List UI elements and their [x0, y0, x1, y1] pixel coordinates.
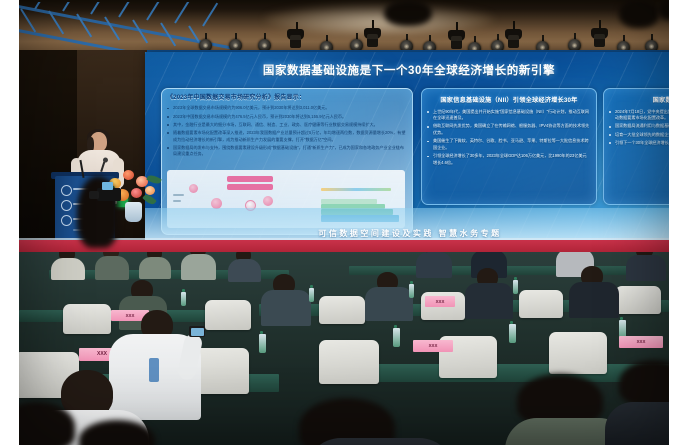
card-bullet: 国家数据局流通利用与数据基础设施建设协同布局逐步推进。	[609, 123, 669, 130]
audience-chair	[319, 296, 365, 324]
card-bullet: 引领下一个30年全球经济增长。	[609, 140, 669, 147]
card-bullet: 2023年全球数据交易市场规模约为906.0亿美元，预计到2030年将达到3,0…	[167, 105, 406, 112]
card-bullet: 借助互联网先发优势，美国确立了在传输网络、根服务器、IPV4协议等方面的技术领先…	[427, 123, 590, 136]
card-heading: 《2023年中国数据交易市场研究分析》报告显示：	[162, 89, 412, 105]
card-bullet: 国家数据局的发布与支持，围绕数据要素建设升级形成"数据基础设施"，打通"新质生产…	[167, 145, 406, 158]
video-camera-icon	[89, 182, 123, 208]
smartphone	[189, 326, 205, 337]
ceiling-drape-3	[659, 0, 669, 20]
audience-chair	[615, 286, 661, 314]
water-bottle	[259, 334, 266, 353]
infographic-line	[173, 200, 181, 202]
card-bullet: 随着数据要素市场化配置改革深入推进，2023年我国数据产业总量预计超过5万亿，年…	[167, 130, 406, 143]
slide-title: 国家数据基础设施是下一个30年全球经济增长的新引擎	[159, 62, 659, 78]
water-bottle	[509, 324, 516, 343]
water-bottle	[393, 328, 400, 347]
water-bottle	[309, 288, 314, 302]
moving-head-light-icon	[364, 28, 381, 47]
infographic-label	[227, 184, 273, 190]
card-bullet: 其中，金融行业是最大的细分市场，互联网、通信、制造、工业、政务、医疗健康等行业数…	[167, 122, 406, 129]
screenshot-root: 国家数据基础设施是下一个30年全球经济增长的新引擎 《2023年中国数据交易市场…	[0, 0, 688, 445]
infographic-icon	[189, 184, 198, 193]
seat-name-card: XXX	[413, 340, 453, 352]
infographic-label	[227, 176, 273, 182]
card-heading: 国家信息基础设施（NII）引领全球经济增长30年	[422, 89, 596, 109]
podium-logo	[61, 185, 72, 196]
audience-chair	[549, 332, 607, 374]
podium-logo	[61, 215, 72, 226]
flower-vase	[125, 202, 142, 222]
podium-logo	[61, 200, 72, 211]
ceiling-drape-1	[384, 0, 432, 26]
audience-chair	[519, 290, 563, 318]
water-bottle	[409, 284, 414, 298]
card-bullet: 上世纪90年代，美国提出并开始实施"国家信息基础设施（NII）"行动计划，推动互…	[427, 109, 590, 122]
lanyard	[149, 358, 159, 382]
card-bullet: 美国催生了下微软、英特尔、谷歌、脸书、亚马逊、苹果、特斯拉等一大批信息技术跨国企…	[427, 138, 590, 151]
card-bullet: 2023年中国数据交易市场规模约为476.5亿元人民币，预计到2030年将达到5…	[167, 114, 406, 121]
seat-name-card: XXX	[425, 296, 455, 307]
seat-name-card: XXX	[619, 336, 663, 348]
moving-head-light-icon	[505, 29, 522, 48]
audience-area: XXX XXX XXX XXX XXX	[19, 252, 669, 445]
audience-chair	[319, 340, 379, 384]
infographic-icon	[263, 196, 273, 206]
infographic-line	[173, 194, 184, 196]
presentation-screen: 国家数据基础设施是下一个30年全球经济增长的新引擎 《2023年中国数据交易市场…	[145, 52, 669, 242]
conference-photo: 国家数据基础设施是下一个30年全球经济增长的新引擎 《2023年中国数据交易市场…	[19, 0, 669, 445]
card-bullet: 引领全球经济增长了30多年，2023年全球GDP达106万亿美元，比1990年的…	[427, 153, 590, 166]
water-bottle	[181, 292, 186, 306]
card-bullet: 2024年7月18日，党中央提出加快构建国家数据基础制度，建设国家数据基础设施，…	[609, 109, 669, 122]
moving-head-light-icon	[591, 28, 608, 47]
audience-chair	[63, 304, 111, 334]
slide-card-ndi: 国家数据基础设施引领全球 2024年7月18日，党中央提出加快构建国家数据基础制…	[603, 88, 669, 205]
card-bullet: 培育一大批全球领先的数据企业，数据行业新赛道加速形成。	[609, 132, 669, 139]
water-bottle	[513, 280, 518, 294]
audience-chair	[205, 300, 251, 330]
ceiling-drape-2	[619, 0, 659, 28]
moving-head-light-icon	[448, 30, 465, 49]
moving-head-light-icon	[287, 29, 304, 48]
card-heading: 国家数据基础设施引领全球	[604, 89, 669, 109]
slide-card-nii: 国家信息基础设施（NII）引领全球经济增长30年 上世纪90年代，美国提出并开始…	[421, 88, 597, 205]
